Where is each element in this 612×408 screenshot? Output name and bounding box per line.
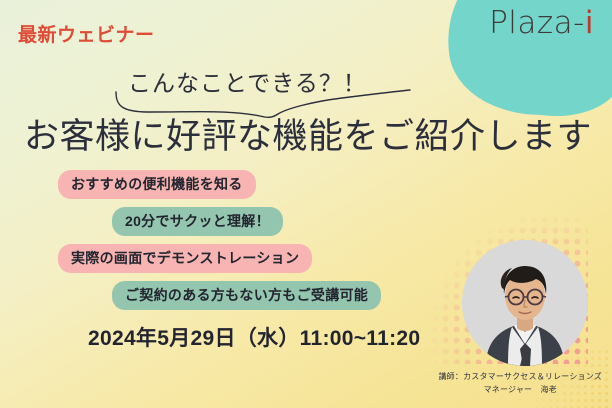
eyebrow-label: 最新ウェビナー bbox=[18, 20, 155, 47]
logo-accent-letter: i bbox=[585, 5, 594, 41]
webinar-date-time: 2024年5月29日（水）11:00~11:20 bbox=[88, 322, 420, 352]
portrait-illustration bbox=[462, 240, 588, 366]
feature-badge: 実際の画面でデモンストレーション bbox=[58, 244, 312, 273]
feature-badge: 20分でサクッと理解！ bbox=[112, 207, 283, 236]
page-title: お客様に好評な機能をご紹介します bbox=[24, 108, 592, 159]
speaker-credit-line-1: 講師：カスタマーサクセス＆リレーションズ bbox=[438, 371, 602, 383]
logo-text: Plaza- bbox=[489, 5, 585, 41]
speaker-credit: 講師：カスタマーサクセス＆リレーションズ マネージャー 海老 bbox=[438, 371, 602, 396]
badge-row: ご契約のある方もない方もご受講可能 bbox=[0, 281, 430, 318]
plaza-i-logo: Plaza-i bbox=[489, 8, 594, 39]
speaker-portrait-photo bbox=[462, 240, 588, 366]
feature-badge: ご契約のある方もない方もご受講可能 bbox=[112, 281, 381, 310]
badge-row: おすすめの便利機能を知る bbox=[0, 170, 430, 207]
feature-badge-list: おすすめの便利機能を知る 20分でサクッと理解！ 実際の画面でデモンストレーショ… bbox=[0, 170, 430, 318]
speaker-credit-line-2: マネージャー 海老 bbox=[438, 384, 602, 396]
badge-row: 20分でサクッと理解！ bbox=[0, 207, 430, 244]
feature-badge: おすすめの便利機能を知る bbox=[58, 170, 256, 199]
webinar-banner: Plaza-i 最新ウェビナー こんなことできる？！ お客様に好評な機能をご紹介… bbox=[0, 0, 612, 408]
badge-row: 実際の画面でデモンストレーション bbox=[0, 244, 430, 281]
sub-headline: こんなことできる？！ bbox=[128, 64, 367, 98]
